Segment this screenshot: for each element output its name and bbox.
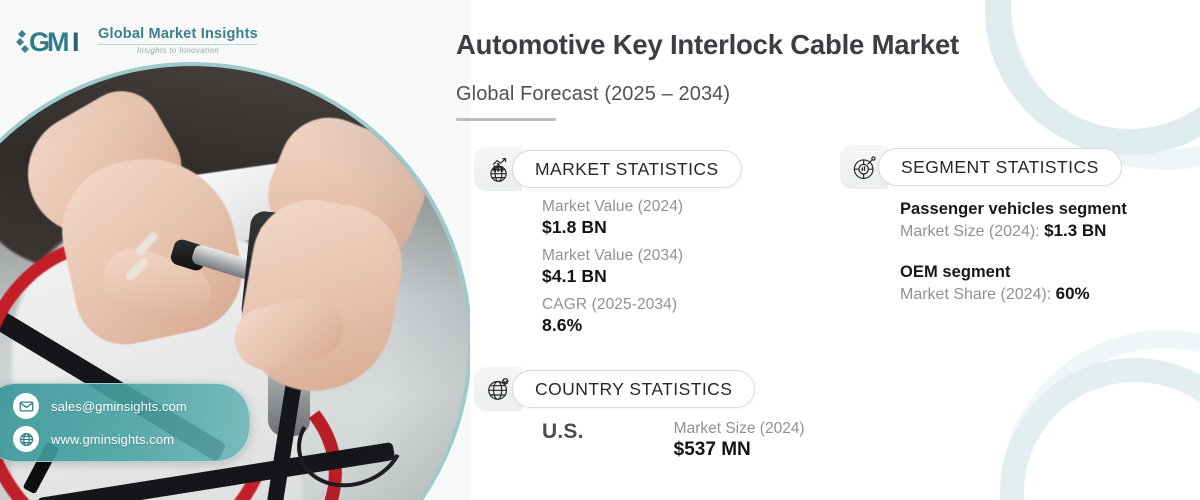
segment-statistics-header: SEGMENT STATISTICS: [840, 145, 1122, 189]
brand-logo-text: Global Market Insights Insights to Innov…: [98, 27, 258, 56]
market-row-label-0: Market Value (2024): [542, 198, 683, 216]
gmi-logo-icon: G M I: [14, 24, 90, 58]
market-statistics-label: MARKET STATISTICS: [535, 159, 719, 180]
country-statistics-label: COUNTRY STATISTICS: [535, 379, 732, 400]
segment-spacer: [900, 241, 1127, 263]
market-row-value-0: $1.8 BN: [542, 217, 683, 238]
page-title: Automotive Key Interlock Cable Market: [456, 29, 959, 61]
infographic-canvas: G M I Global Market Insights Insights to…: [0, 0, 1200, 500]
envelope-icon: [13, 393, 39, 419]
segment-item-row-0: Market Size (2024): $1.3 BN: [900, 221, 1127, 241]
country-statistics-pill: COUNTRY STATISTICS: [512, 370, 755, 408]
country-stat-block: Market Size (2024) $537 MN: [674, 420, 805, 461]
contact-website: www.gminsights.com: [51, 432, 174, 447]
brand-logo-divider: [98, 44, 258, 45]
brand-logo[interactable]: G M I Global Market Insights Insights to…: [14, 24, 258, 58]
segment-statistics-pill: SEGMENT STATISTICS: [878, 148, 1122, 186]
brand-tagline: Insights to Innovation: [98, 47, 258, 55]
country-name: U.S.: [542, 420, 584, 444]
market-row-label-2: CAGR (2025-2034): [542, 296, 683, 314]
contact-website-row[interactable]: www.gminsights.com: [0, 426, 235, 452]
market-statistics-header: MARKET STATISTICS: [474, 147, 742, 191]
brand-name: Global Market Insights: [98, 27, 258, 42]
segment-item-title-0: Passenger vehicles segment: [900, 200, 1127, 219]
title-divider: [456, 118, 556, 121]
segment-item-row-1: Market Share (2024): 60%: [900, 284, 1127, 304]
country-statistics-header: COUNTRY STATISTICS: [474, 367, 755, 411]
svg-text:I: I: [72, 27, 80, 57]
segment-statistics-label: SEGMENT STATISTICS: [901, 157, 1099, 178]
svg-text:M: M: [47, 27, 70, 57]
market-statistics-body: Market Value (2024) $1.8 BN Market Value…: [542, 198, 683, 336]
contact-email: sales@gminsights.com: [51, 399, 187, 414]
market-row-value-1: $4.1 BN: [542, 266, 683, 287]
content-area: Automotive Key Interlock Cable Market Gl…: [452, 0, 1200, 500]
page-subtitle: Global Forecast (2025 – 2034): [456, 83, 730, 106]
segment-item-value-0: $1.3 BN: [1044, 221, 1106, 240]
country-stat-label: Market Size (2024): [674, 420, 805, 438]
segment-statistics-body: Passenger vehicles segment Market Size (…: [900, 200, 1127, 304]
country-stat-value: $537 MN: [674, 439, 805, 461]
segment-item-label-0: Market Size (2024):: [900, 223, 1044, 240]
country-statistics-body: U.S. Market Size (2024) $537 MN: [542, 420, 805, 461]
left-image-panel: G M I Global Market Insights Insights to…: [0, 0, 470, 500]
market-row-label-1: Market Value (2034): [542, 247, 683, 265]
contact-badge: sales@gminsights.com www.gminsights.com: [0, 383, 250, 462]
segment-item-label-1: Market Share (2024):: [900, 286, 1056, 303]
contact-email-row[interactable]: sales@gminsights.com: [0, 393, 235, 419]
globe-icon: [13, 426, 39, 452]
market-row-value-2: 8.6%: [542, 315, 683, 336]
segment-item-value-1: 60%: [1056, 284, 1090, 303]
market-statistics-pill: MARKET STATISTICS: [512, 150, 742, 188]
segment-item-title-1: OEM segment: [900, 263, 1127, 282]
